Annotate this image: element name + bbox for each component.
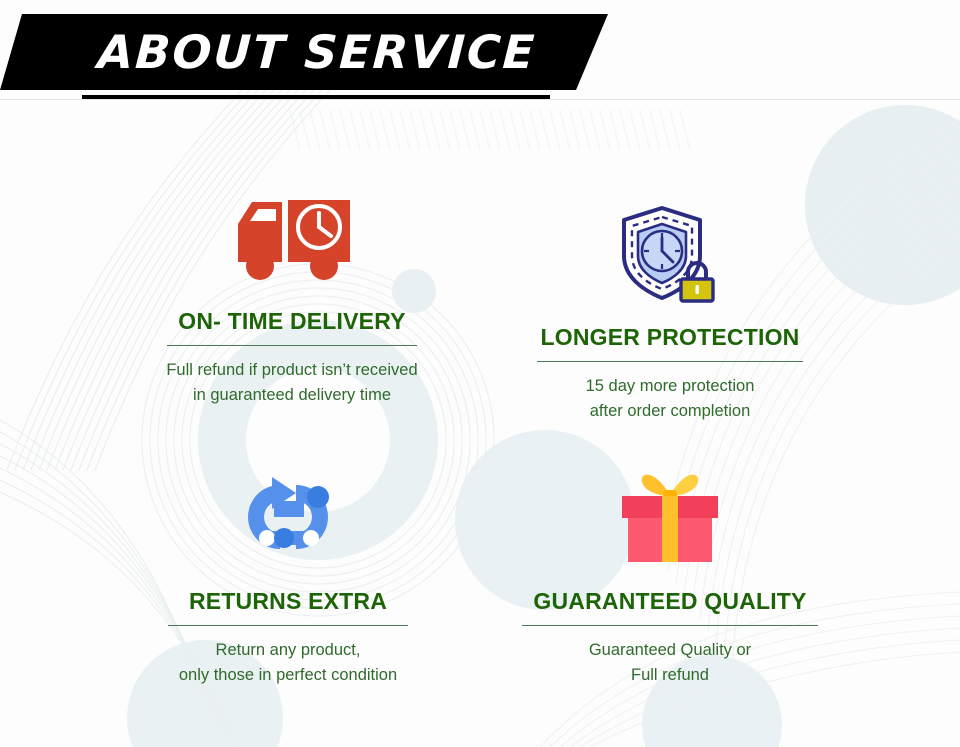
card-desc-line-2: only those in perfect condition: [108, 663, 468, 688]
card-description-protection: 15 day more protection after order compl…: [500, 374, 840, 424]
card-rule: [537, 361, 803, 362]
return-car-arrow-icon: [234, 475, 342, 561]
card-description-quality: Guaranteed Quality or Full refund: [500, 638, 840, 688]
card-desc-line-1: Return any product,: [108, 638, 468, 663]
card-desc-line-2: in guaranteed delivery time: [92, 383, 492, 408]
card-desc-line-1: Guaranteed Quality or: [500, 638, 840, 663]
card-rule: [167, 345, 417, 346]
header-rule-thick: [82, 95, 550, 99]
service-card-delivery: ON- TIME DELIVERY Full refund if product…: [92, 182, 492, 408]
card-icon-wrap: [92, 182, 492, 294]
page-title: ABOUT SERVICE: [20, 14, 614, 90]
card-rule: [168, 625, 408, 626]
card-description-delivery: Full refund if product isn’t received in…: [92, 358, 492, 408]
gift-box-icon: [614, 470, 726, 566]
page-header: ABOUT SERVICE: [0, 0, 960, 110]
header-rule-thin: [0, 99, 960, 100]
about-service-page: ABOUT SERVICE: [0, 0, 960, 747]
service-card-quality: GUARANTEED QUALITY Guaranteed Quality or…: [500, 462, 840, 688]
card-desc-line-1: 15 day more protection: [500, 374, 840, 399]
card-description-returns: Return any product, only those in perfec…: [108, 638, 468, 688]
card-title-protection: LONGER PROTECTION: [500, 324, 840, 351]
card-title-returns: RETURNS EXTRA: [108, 588, 468, 615]
card-desc-line-1: Full refund if product isn’t received: [92, 358, 492, 383]
service-card-returns: RETURNS EXTRA Return any product, only t…: [108, 462, 468, 688]
card-title-quality: GUARANTEED QUALITY: [500, 588, 840, 615]
delivery-truck-clock-icon: [232, 194, 352, 282]
card-desc-line-2: after order completion: [500, 399, 840, 424]
card-desc-line-2: Full refund: [500, 663, 840, 688]
service-card-protection: LONGER PROTECTION 15 day more protection…: [500, 198, 840, 424]
card-icon-wrap: [500, 198, 840, 310]
card-title-delivery: ON- TIME DELIVERY: [92, 308, 492, 335]
shield-clock-lock-icon: [618, 202, 722, 306]
card-icon-wrap: [500, 462, 840, 574]
card-icon-wrap: [108, 462, 468, 574]
card-rule: [522, 625, 818, 626]
service-cards: ON- TIME DELIVERY Full refund if product…: [0, 110, 960, 747]
